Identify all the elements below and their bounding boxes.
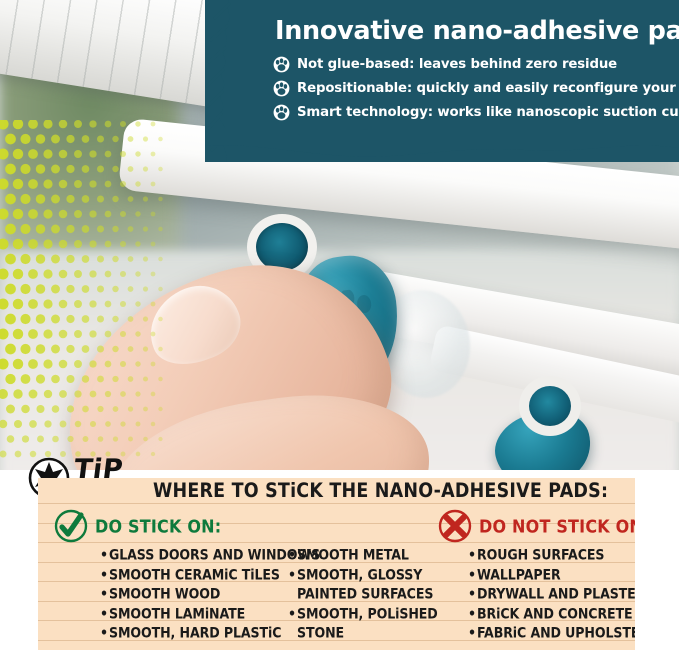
list-item-text: FABRiC AND UPHOLSTERY [477,624,635,641]
adhesive-pad-mount-lower [528,385,572,427]
list-item: •SMOOTH WOOD [100,583,300,604]
list-item: •SMOOTH LAMiNATE [100,603,300,624]
list-item: •FABRiC AND UPHOLSTERY [468,622,635,643]
list-item: •SMOOTH, GLOSSY [288,564,458,585]
do-not-stick-header: DO NOT STICK ON: [438,508,635,544]
paw-print-icon [273,56,290,73]
list-item: •GLASS DOORS AND WINDOWS [100,544,300,565]
panel-columns: DO STICK ON: •GLASS DOORS AND WINDOWS •S… [38,508,635,650]
list-item-text: DRYWALL AND PLASTER [477,585,635,602]
do-stick-lists: •GLASS DOORS AND WINDOWS •SMOOTH CERAMiC… [54,544,444,648]
list-item-text: SMOOTH, GLOSSY [297,566,422,583]
list-item: •SMOOTH, POLiSHED [288,603,458,624]
header-bullet-item: Smart technology: works like nanoscopic … [273,104,673,121]
list-item-text: STONE [297,624,344,641]
list-item: •ROUGH SURFACES [468,544,635,565]
list-item-text: SMOOTH WOOD [109,585,220,602]
do-stick-section: DO STICK ON: •GLASS DOORS AND WINDOWS •S… [54,508,444,648]
do-stick-column-1: •GLASS DOORS AND WINDOWS •SMOOTH CERAMiC… [100,544,300,642]
list-item-text: BRiCK AND CONCRETE [477,605,633,622]
header-bullet-item: Not glue-based: leaves behind zero resid… [273,56,673,73]
list-item-text: SMOOTH LAMiNATE [109,605,245,622]
do-not-stick-label: DO NOT STICK ON: [479,515,635,536]
x-circle-icon [438,509,472,543]
do-stick-header: DO STICK ON: [54,508,444,544]
list-item-continuation: PAINTED SURFACES [288,583,458,604]
check-circle-icon [54,509,88,543]
do-not-stick-section: DO NOT STICK ON: •ROUGH SURFACES •WALLPA… [438,508,635,648]
list-item: •WALLPAPER [468,564,635,585]
do-not-stick-list: •ROUGH SURFACES •WALLPAPER •DRYWALL AND … [438,544,635,648]
do-not-stick-column: •ROUGH SURFACES •WALLPAPER •DRYWALL AND … [468,544,635,642]
list-item-text: SMOOTH, POLiSHED [297,605,438,622]
list-item-text: SMOOTH, HARD PLASTiC [109,624,281,641]
panel-title: WHERE TO STiCK THE NANO-ADHESIVE PADS: [153,480,573,509]
list-item-text: ROUGH SURFACES [477,546,604,563]
mount-ring-lower [519,376,581,436]
do-stick-column-2: •SMOOTH METAL •SMOOTH, GLOSSY PAINTED SU… [288,544,458,642]
infographic-page: Innovative nano-adhesive pads Not glue-b… [0,0,679,658]
list-item: •SMOOTH, HARD PLASTiC [100,622,300,643]
list-item: •SMOOTH METAL [288,544,458,565]
header-wave-edge [205,130,679,162]
list-item: •BRiCK AND CONCRETE [468,603,635,624]
list-item-text: SMOOTH CERAMiC TiLES [109,566,280,583]
header-bullet-text: Smart technology: works like nanoscopic … [297,105,679,120]
list-item-text: PAINTED SURFACES [297,585,433,602]
where-to-stick-panel: WHERE TO STiCK THE NANO-ADHESIVE PADS: D… [38,478,635,650]
paw-print-icon [273,80,290,97]
header-title: Innovative nano-adhesive pads [275,16,665,46]
list-item-text: SMOOTH METAL [297,546,409,563]
list-item: •SMOOTH CERAMiC TiLES [100,564,300,585]
header-bullet-list: Not glue-based: leaves behind zero resid… [273,56,673,128]
list-item-text: WALLPAPER [477,566,561,583]
header-bullet-text: Repositionable: quickly and easily recon… [297,81,679,96]
do-stick-label: DO STICK ON: [95,515,221,536]
list-item-continuation: STONE [288,622,458,643]
header-bullet-text: Not glue-based: leaves behind zero resid… [297,57,617,72]
header-bullet-item: Repositionable: quickly and easily recon… [273,80,673,97]
header-panel: Innovative nano-adhesive pads Not glue-b… [205,0,679,162]
list-item: •DRYWALL AND PLASTER [468,583,635,604]
paw-print-icon [273,104,290,121]
